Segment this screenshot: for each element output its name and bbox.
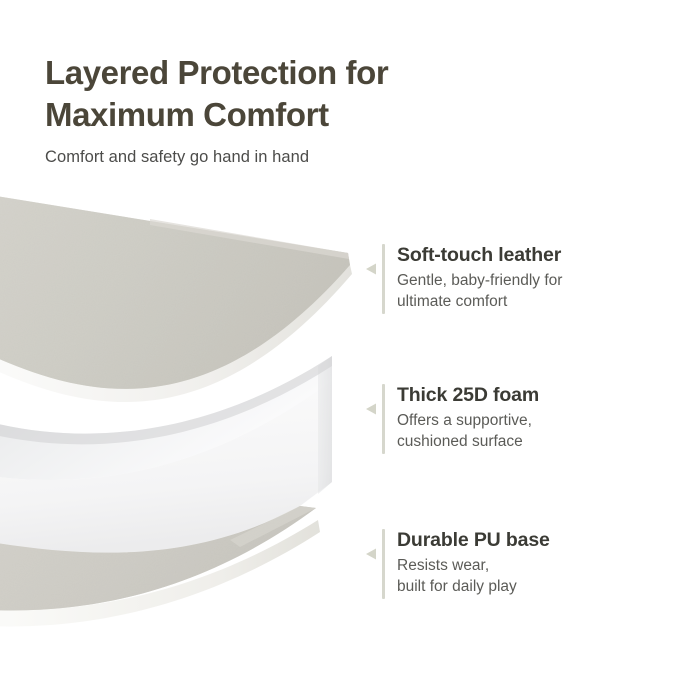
soft-touch-leather-layer (0, 195, 352, 402)
page-title: Layered Protection for Maximum Comfort (45, 52, 565, 135)
callout-title: Thick 25D foam (397, 384, 539, 406)
callout-divider-rule (382, 384, 385, 454)
callout-thick-25d-foam: Thick 25D foam Offers a supportive, cush… (366, 384, 666, 454)
callout-description: Resists wear, built for daily play (397, 556, 666, 597)
callout-title: Durable PU base (397, 529, 550, 551)
page-subtitle: Comfort and safety go hand in hand (45, 148, 565, 167)
triangle-left-icon (366, 403, 377, 415)
callout-description: Offers a supportive, cushioned surface (397, 411, 666, 452)
header-block: Layered Protection for Maximum Comfort C… (45, 52, 565, 167)
callout-text-block: Soft-touch leather Gentle, baby-friendly… (397, 244, 666, 314)
infographic-canvas: Layered Protection for Maximum Comfort C… (0, 0, 679, 679)
callout-text-block: Thick 25D foam Offers a supportive, cush… (397, 384, 666, 454)
callout-text-block: Durable PU base Resists wear, built for … (397, 529, 666, 599)
triangle-left-icon (366, 548, 377, 560)
layered-mat-cross-section (0, 190, 360, 640)
callout-divider-rule (382, 244, 385, 314)
callout-soft-touch-leather: Soft-touch leather Gentle, baby-friendly… (366, 244, 666, 314)
callout-title: Soft-touch leather (397, 244, 561, 266)
triangle-left-icon (366, 263, 377, 275)
callout-durable-pu-base: Durable PU base Resists wear, built for … (366, 529, 666, 599)
callout-divider-rule (382, 529, 385, 599)
callout-description: Gentle, baby-friendly for ultimate comfo… (397, 271, 666, 312)
